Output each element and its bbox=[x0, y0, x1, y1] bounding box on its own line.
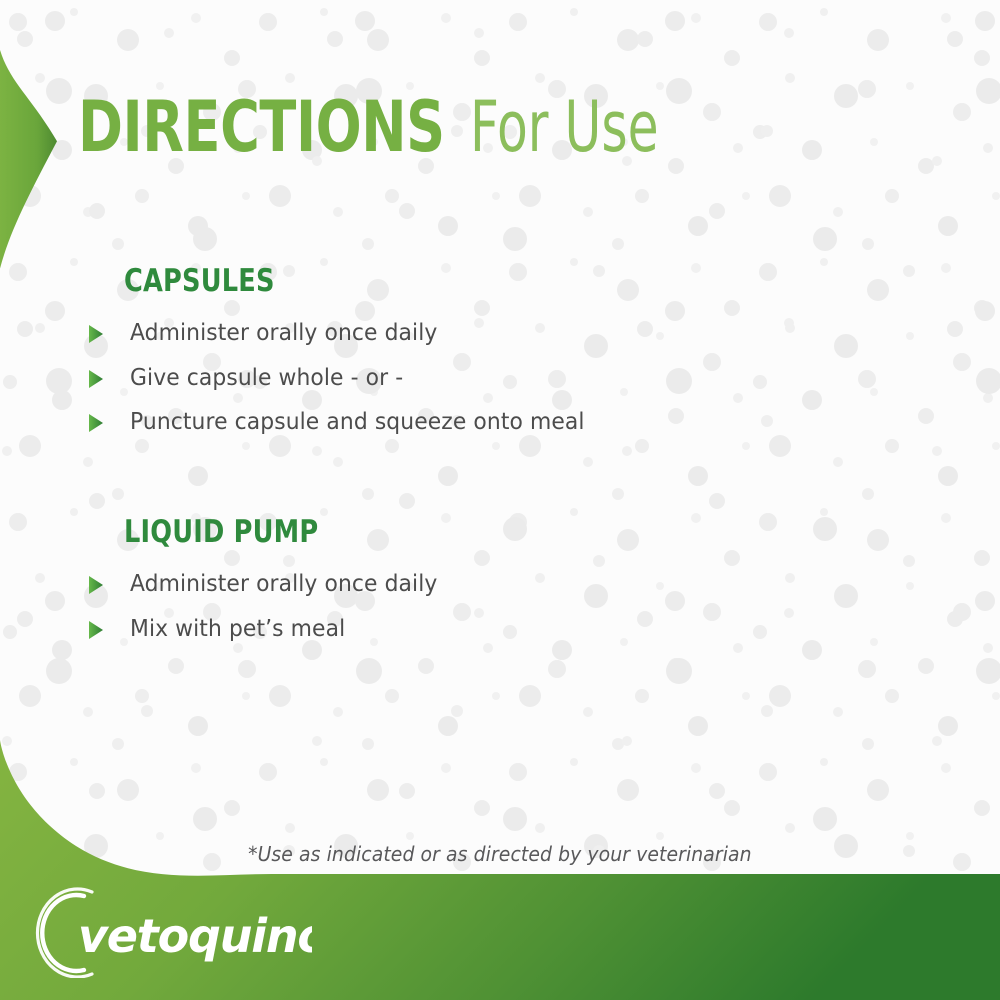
vetoquinol-logo: vetoquinoL bbox=[22, 886, 312, 978]
list-item: Puncture capsule and squeeze onto meal bbox=[88, 409, 609, 435]
capsules-bullet-list: Administer orally once daily Give capsul… bbox=[88, 320, 609, 435]
triangle-right-icon bbox=[88, 325, 104, 343]
section-liquid-pump: LIQUID PUMP Administer orally once daily… bbox=[88, 515, 454, 660]
list-item: Administer orally once daily bbox=[88, 320, 609, 346]
list-item-label: Administer orally once daily bbox=[130, 571, 437, 597]
title-for-use: For Use bbox=[470, 92, 659, 162]
list-item-label: Mix with pet’s meal bbox=[130, 616, 345, 642]
logo-wordmark: vetoquinoL bbox=[78, 909, 312, 963]
triangle-right-icon bbox=[88, 621, 104, 639]
section-heading-capsules: CAPSULES bbox=[124, 264, 570, 298]
triangle-right-icon bbox=[88, 576, 104, 594]
footnote: *Use as indicated or as directed by your… bbox=[0, 842, 1000, 866]
green-arrow-decoration bbox=[0, 40, 80, 270]
title-directions: DIRECTIONS bbox=[78, 92, 445, 162]
section-heading-liquid-pump: LIQUID PUMP bbox=[124, 515, 427, 549]
triangle-right-icon bbox=[88, 414, 104, 432]
list-item-label: Administer orally once daily bbox=[130, 320, 437, 346]
list-item: Give capsule whole - or - bbox=[88, 365, 609, 391]
list-item: Administer orally once daily bbox=[88, 571, 454, 597]
list-item-label: Give capsule whole - or - bbox=[130, 365, 403, 391]
liquid-pump-bullet-list: Administer orally once daily Mix with pe… bbox=[88, 571, 454, 642]
footnote-text: *Use as indicated or as directed by your… bbox=[248, 842, 752, 866]
triangle-right-icon bbox=[88, 370, 104, 388]
list-item: Mix with pet’s meal bbox=[88, 616, 454, 642]
list-item-label: Puncture capsule and squeeze onto meal bbox=[130, 409, 585, 435]
page-title: DIRECTIONSFor Use bbox=[78, 92, 706, 162]
directions-for-use-panel: DIRECTIONSFor Use CAPSULES Administer or… bbox=[0, 0, 1000, 1000]
section-capsules: CAPSULES Administer orally once daily bbox=[88, 264, 609, 453]
